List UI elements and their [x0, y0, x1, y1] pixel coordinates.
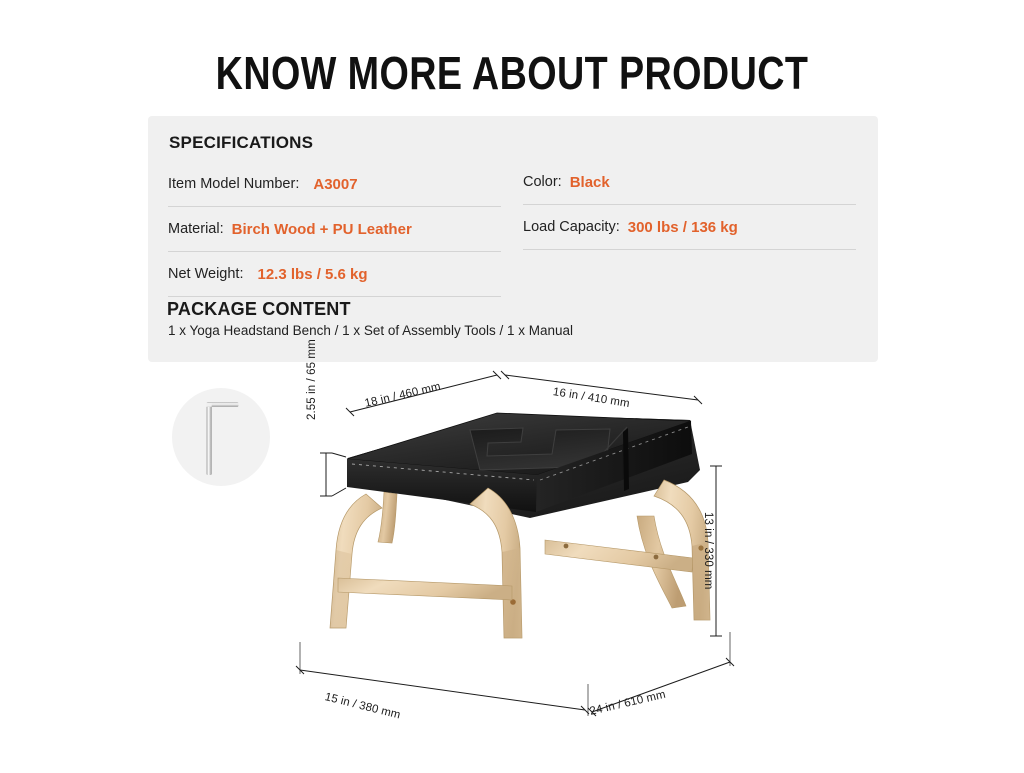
- spec-value-item-model-number: A3007: [313, 176, 357, 193]
- spec-row-material: Material: Birch Wood + PU Leather: [168, 207, 501, 252]
- leg-back-left: [378, 492, 397, 543]
- spec-value-load-capacity: 300 lbs / 136 kg: [628, 219, 738, 236]
- leg-front-left: [330, 494, 382, 628]
- spec-label-material: Material:: [168, 221, 224, 237]
- spec-row-color: Color: Black: [523, 160, 856, 205]
- dimension-label-seat-thickness: 2.55 in / 65 mm: [306, 339, 318, 420]
- spec-label-load-capacity: Load Capacity:: [523, 219, 620, 235]
- specifications-heading: SPECIFICATIONS: [169, 133, 313, 153]
- package-content-heading: PACKAGE CONTENT: [167, 299, 351, 320]
- yoga-headstand-bench-drawing: [0, 370, 1024, 768]
- spec-label-item-model-number: Item Model Number:: [168, 176, 299, 192]
- specifications-right-column: Color: Black Load Capacity: 300 lbs / 13…: [523, 160, 856, 250]
- page-title: KNOW MORE ABOUT PRODUCT: [92, 48, 932, 98]
- spec-value-color: Black: [570, 174, 610, 191]
- spec-row-net-weight: Net Weight: 12.3 lbs / 5.6 kg: [168, 252, 501, 297]
- cross-brace-left: [338, 578, 512, 600]
- spec-label-net-weight: Net Weight:: [168, 266, 244, 282]
- spec-label-color: Color:: [523, 174, 562, 190]
- package-content-items: 1 x Yoga Headstand Bench / 1 x Set of As…: [168, 323, 573, 338]
- specifications-panel: SPECIFICATIONS Item Model Number: A3007 …: [148, 116, 878, 362]
- dimension-label-overall-height: 13 in / 330 mm: [702, 512, 714, 589]
- product-illustration: [0, 370, 1024, 768]
- cross-brace-right: [545, 540, 693, 572]
- seat-cushion: [347, 413, 700, 518]
- spec-value-net-weight: 12.3 lbs / 5.6 kg: [258, 266, 368, 283]
- spec-row-item-model-number: Item Model Number: A3007: [168, 162, 501, 207]
- specifications-left-column: Item Model Number: A3007 Material: Birch…: [168, 162, 501, 297]
- spec-value-material: Birch Wood + PU Leather: [232, 221, 412, 238]
- spec-row-load-capacity: Load Capacity: 300 lbs / 136 kg: [523, 205, 856, 250]
